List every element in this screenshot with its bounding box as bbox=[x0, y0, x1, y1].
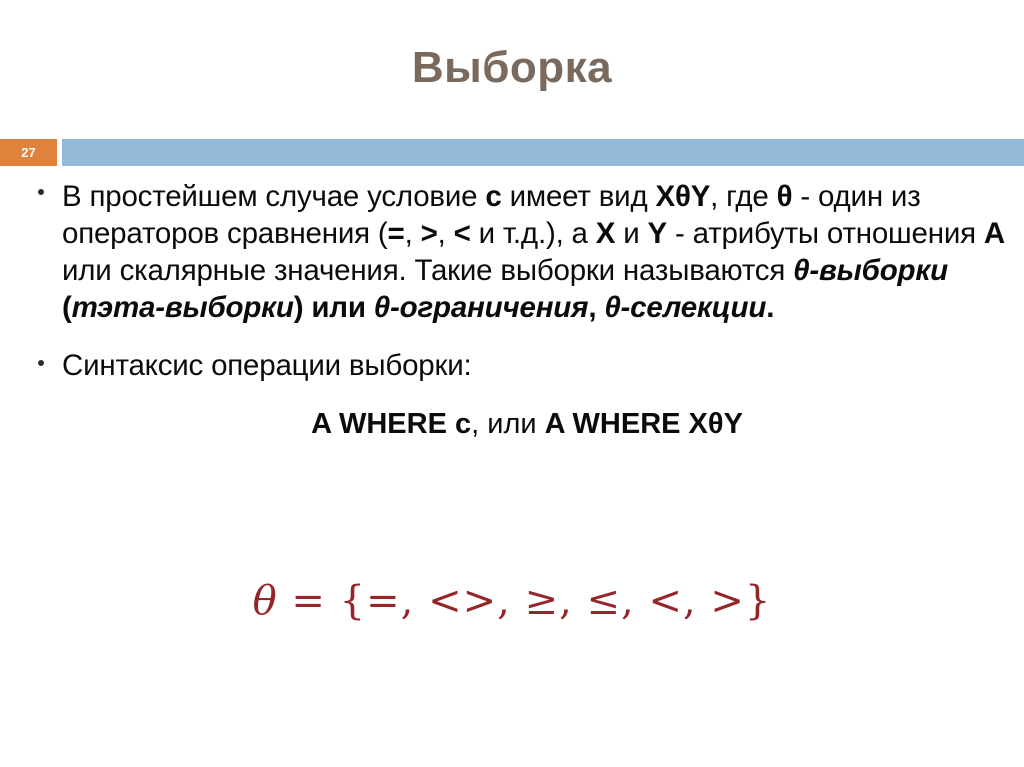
formula-open-brace: { bbox=[340, 578, 366, 624]
page-number-badge: 27 bbox=[0, 139, 57, 166]
text-run-9: > bbox=[421, 217, 438, 250]
text-run-20: ( bbox=[62, 291, 72, 324]
bullet-dot-icon bbox=[38, 360, 44, 366]
text-run-19: θ-выборки bbox=[793, 254, 948, 287]
formula-comma-4: , bbox=[683, 578, 710, 624]
text-run-13: X bbox=[596, 217, 615, 250]
formula-operator-3: ≤ bbox=[587, 578, 622, 624]
text-run-2: имеет вид bbox=[502, 180, 656, 213]
theta-definition-formula: θ = {=, <>, ≥, ≤, <, >} bbox=[253, 578, 772, 624]
text-run-21: тэта-выборки bbox=[72, 291, 294, 324]
formula-theta: θ bbox=[253, 578, 278, 624]
page-title: Выборка bbox=[0, 44, 1024, 92]
formula-operator-0: = bbox=[366, 578, 401, 624]
text-run-1: с bbox=[485, 180, 501, 213]
text-run-14: и bbox=[615, 217, 647, 250]
formula-close-brace: } bbox=[745, 578, 771, 624]
text-run-16: - атрибуты отношения bbox=[667, 217, 984, 250]
text-run-4: , где bbox=[710, 180, 776, 213]
text-run-3: XθY bbox=[655, 180, 710, 213]
bullet-dot-icon bbox=[38, 189, 44, 195]
formula-comma-1: , bbox=[497, 578, 524, 624]
formula-area: θ = {=, <>, ≥, ≤, <, >} bbox=[0, 578, 1024, 624]
text-run-5: θ bbox=[777, 180, 793, 213]
header-rule: 27 bbox=[0, 139, 1024, 166]
formula-operator-2: ≥ bbox=[525, 578, 560, 624]
text-run-11: < bbox=[454, 217, 471, 250]
slide-canvas: Выборка 27 В простейшем случае условие с… bbox=[0, 0, 1024, 767]
syntax-form-2: A WHERE XθY bbox=[545, 408, 743, 440]
text-run-0: В простейшем случае условие bbox=[62, 180, 485, 213]
title-area: Выборка bbox=[0, 44, 1024, 92]
syntax-line: A WHERE c, или A WHERE XθY bbox=[0, 406, 1024, 442]
syntax-form-1: A WHERE c bbox=[311, 408, 471, 440]
text-run-24: , bbox=[588, 291, 604, 324]
list-item: В простейшем случае условие с имеет вид … bbox=[0, 178, 1024, 326]
text-run-10: , bbox=[438, 217, 454, 250]
bullet-text-2: Синтаксис операции выборки: bbox=[62, 347, 1016, 384]
text-run-17: A bbox=[984, 217, 1005, 250]
text-run-7: = bbox=[388, 217, 405, 250]
text-run-23: θ-ограничения bbox=[374, 291, 589, 324]
list-item: Синтаксис операции выборки: bbox=[0, 347, 1024, 384]
syntax-separator: , или bbox=[471, 408, 545, 440]
formula-operator-1: <> bbox=[428, 578, 497, 624]
text-run-18: или скалярные значения. Такие выборки на… bbox=[62, 254, 793, 287]
text-run-8: , bbox=[405, 217, 421, 250]
formula-comma-2: , bbox=[559, 578, 586, 624]
bullet-text-1: В простейшем случае условие с имеет вид … bbox=[62, 178, 1016, 326]
slide-body: В простейшем случае условие с имеет вид … bbox=[0, 178, 1024, 442]
formula-comma-0: , bbox=[401, 578, 428, 624]
text-run-25: θ-селекции bbox=[604, 291, 766, 324]
formula-operator-4: < bbox=[648, 578, 683, 624]
text-run-12: и т.д.), а bbox=[471, 217, 596, 250]
text-run-22: ) или bbox=[294, 291, 374, 324]
formula-operator-5: > bbox=[710, 578, 745, 624]
text-run-15: Y bbox=[648, 217, 667, 250]
header-rule-bar bbox=[62, 139, 1024, 166]
formula-equals: = bbox=[278, 578, 340, 624]
formula-comma-3: , bbox=[621, 578, 648, 624]
text-run-26: . bbox=[766, 291, 774, 324]
